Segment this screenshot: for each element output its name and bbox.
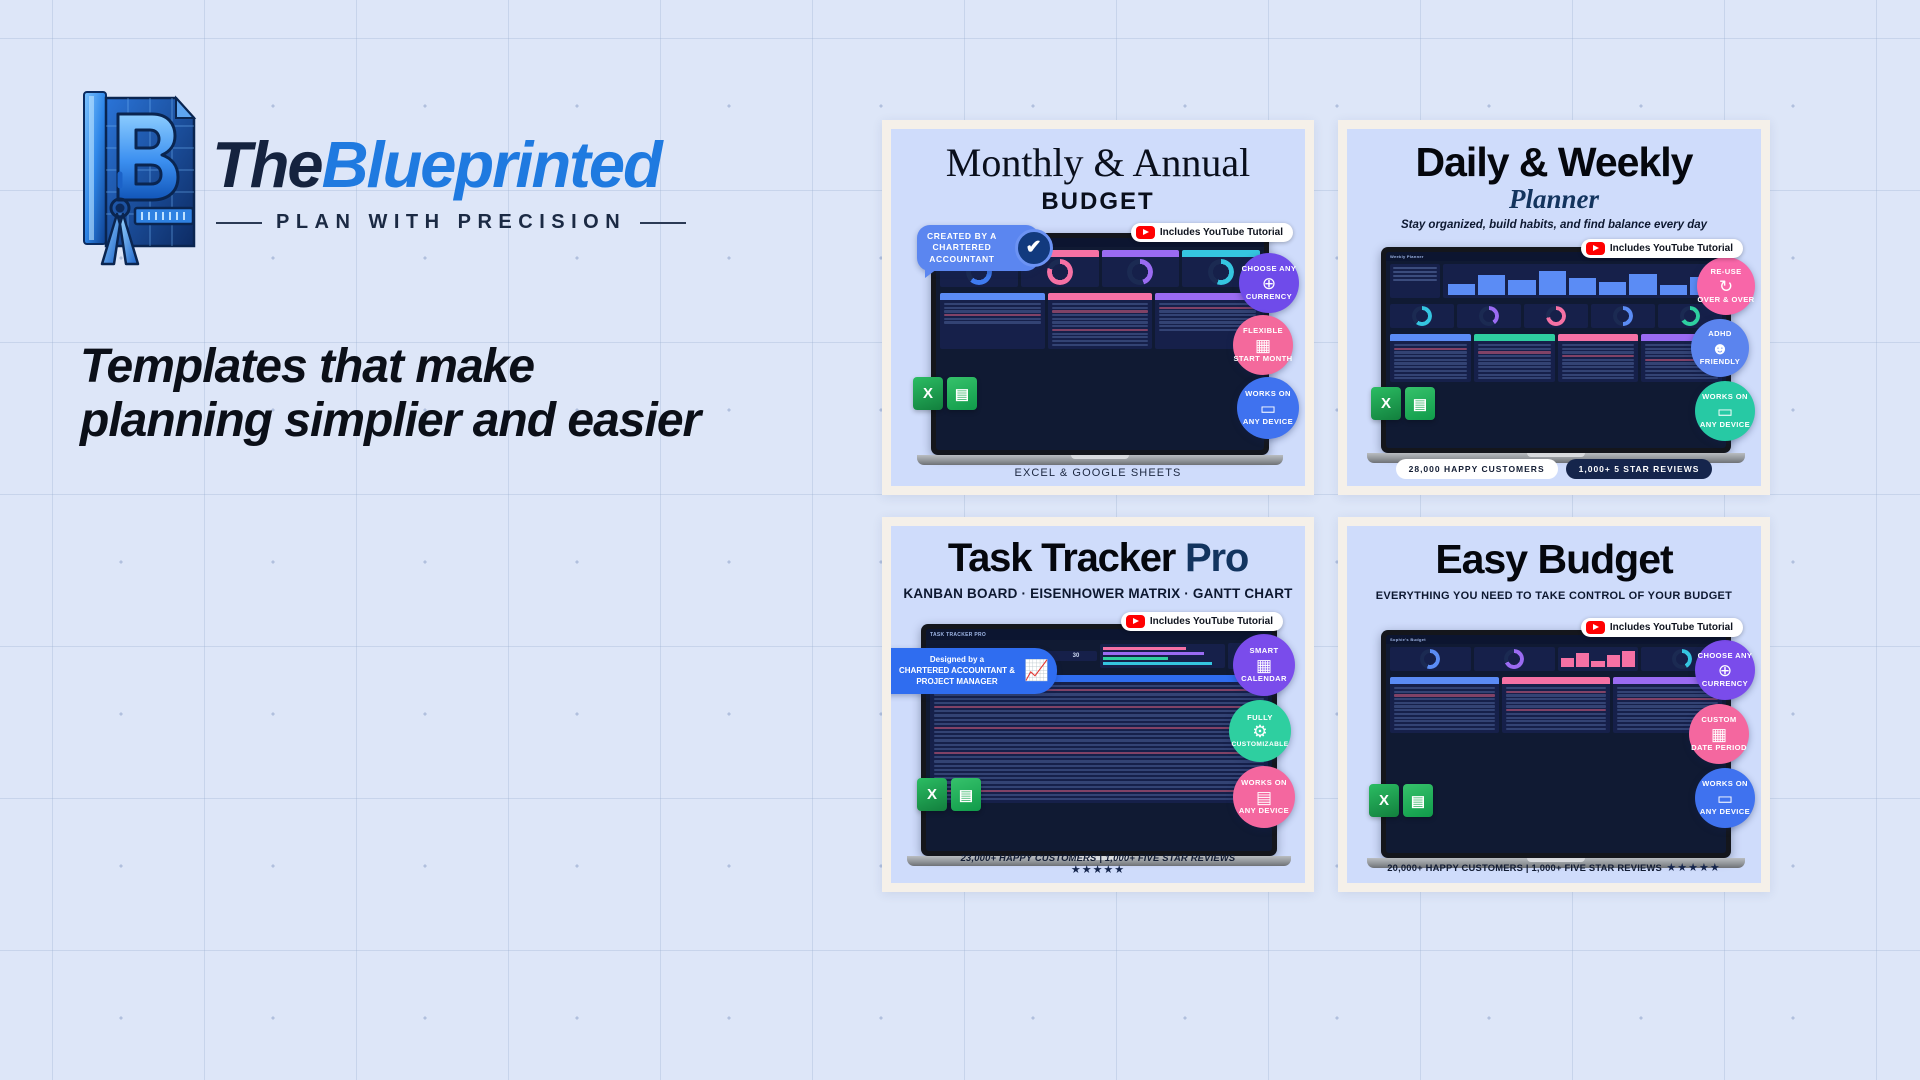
hbar-panel bbox=[1100, 644, 1226, 668]
excel-icon: X bbox=[1371, 387, 1401, 420]
badge-adhd-friendly: ADHD ☻ FRIENDLY bbox=[1691, 319, 1749, 377]
google-sheets-icon: ▤ bbox=[947, 377, 977, 410]
calendar-icon: ▦ bbox=[1256, 657, 1272, 674]
badge-line-1: CHOOSE ANY bbox=[1242, 265, 1297, 273]
excel-icon: X bbox=[917, 778, 947, 811]
card-subtitle: BUDGET bbox=[891, 188, 1305, 216]
badge-smart-calendar: SMART ▦ CALENDAR bbox=[1233, 634, 1295, 696]
tagline-rule-left bbox=[216, 222, 262, 224]
planner-table-row bbox=[1386, 331, 1726, 385]
callout-line-2: CHARTERED bbox=[927, 242, 997, 253]
youtube-badge-label: Includes YouTube Tutorial bbox=[1610, 243, 1733, 254]
badge-flexible-start-month: FLEXIBLE ▦ START MONTH bbox=[1233, 315, 1293, 375]
brand-wordmark: TheBlueprinted bbox=[212, 132, 686, 197]
donut-panel bbox=[1524, 304, 1588, 328]
card-title-accent: Pro bbox=[1185, 536, 1248, 580]
laptop-screen: Sophie's Budget bbox=[1386, 635, 1726, 853]
devices-wifi-icon: ▭ bbox=[1260, 400, 1276, 417]
card-title-text: Task Tracker bbox=[948, 536, 1175, 580]
badge-line-1: ADHD bbox=[1708, 330, 1732, 338]
badge-line-1: SMART bbox=[1250, 647, 1279, 655]
card-inner: Task Tracker Pro KANBAN BOARD · EISENHOW… bbox=[891, 526, 1305, 883]
card-title: Daily & Weekly bbox=[1347, 139, 1761, 186]
badge-line-1: WORKS ON bbox=[1702, 393, 1748, 401]
badge-line-2: CURRENCY bbox=[1246, 293, 1292, 301]
laptop-bezel: Sophie's Budget bbox=[1381, 630, 1731, 858]
laptop-mockup: Sophie's Budget bbox=[1381, 630, 1731, 868]
badge-line-1: WORKS ON bbox=[1702, 780, 1748, 788]
card-footer: 20,000+ HAPPY CUSTOMERS | 1,000+ FIVE ST… bbox=[1347, 858, 1761, 876]
footer-star-rating: ★★★★★ bbox=[1666, 862, 1720, 874]
youtube-icon bbox=[1586, 242, 1605, 255]
google-sheets-icon: ▤ bbox=[1405, 387, 1435, 420]
badge-choose-any-currency: CHOOSE ANY ⊕ CURRENCY bbox=[1695, 640, 1755, 700]
youtube-badge-label: Includes YouTube Tutorial bbox=[1610, 622, 1733, 633]
kpi-panel bbox=[1474, 647, 1555, 671]
check-circle-icon: ✔ bbox=[1015, 229, 1053, 267]
table-panel bbox=[1390, 334, 1471, 382]
devices-wifi-icon: ▭ bbox=[1717, 403, 1733, 420]
footer-text: EXCEL & GOOGLE SHEETS bbox=[891, 467, 1305, 479]
badge-line-1: CUSTOM bbox=[1701, 716, 1736, 724]
card-inner: Monthly & Annual BUDGET Includes YouTube… bbox=[891, 129, 1305, 486]
tagline-rule-right bbox=[640, 222, 686, 224]
youtube-badge-label: Includes YouTube Tutorial bbox=[1150, 616, 1273, 627]
badge-works-on-any-device: WORKS ON ▭ ANY DEVICE bbox=[1695, 768, 1755, 828]
card-footer: 23,000+ HAPPY CUSTOMERS | 1,000+ FIVE ST… bbox=[891, 852, 1305, 876]
footer-text: 20,000+ HAPPY CUSTOMERS | 1,000+ FIVE ST… bbox=[1387, 862, 1662, 873]
ribbon-line-1: Designed by a bbox=[899, 655, 1015, 666]
devices-wifi-icon: ▭ bbox=[1717, 790, 1733, 807]
footer-line: 20,000+ HAPPY CUSTOMERS | 1,000+ FIVE ST… bbox=[1347, 858, 1761, 876]
badge-line-2: CALENDAR bbox=[1241, 675, 1287, 683]
youtube-badge-label: Includes YouTube Tutorial bbox=[1160, 227, 1283, 238]
brand-tagline-row: PLAN WITH PRECISION bbox=[212, 211, 686, 234]
badge-line-1: WORKS ON bbox=[1245, 390, 1291, 398]
planner-bars-row bbox=[1386, 261, 1726, 301]
footer-pill-row: 28,000 HAPPY CUSTOMERS 1,000+ 5 STAR REV… bbox=[1347, 459, 1761, 479]
badge-line-2: START MONTH bbox=[1233, 355, 1292, 363]
screen-label: Sophie's Budget bbox=[1390, 637, 1426, 642]
card-header: Daily & Weekly Planner Stay organized, b… bbox=[1347, 129, 1761, 231]
screen-label: Weekly Planner bbox=[1390, 254, 1424, 259]
youtube-icon bbox=[1126, 615, 1145, 628]
donut-panel bbox=[1457, 304, 1521, 328]
spreadsheet-table-row bbox=[936, 290, 1264, 352]
google-sheets-icon: ▤ bbox=[1403, 784, 1433, 817]
excel-icon: X bbox=[1369, 784, 1399, 817]
bar-panel bbox=[1558, 647, 1639, 671]
happy-customers-pill: 28,000 HAPPY CUSTOMERS bbox=[1396, 459, 1558, 479]
product-card-easy-budget[interactable]: Easy Budget EVERYTHING YOU NEED TO TAKE … bbox=[1338, 517, 1770, 892]
callout-line-3: ACCOUNTANT bbox=[927, 254, 997, 265]
devices-wifi-icon: ▤ bbox=[1256, 789, 1272, 806]
donut-panel bbox=[1390, 304, 1454, 328]
badge-works-on-any-device: WORKS ON ▭ ANY DEVICE bbox=[1695, 381, 1755, 441]
badge-line-1: CHOOSE ANY bbox=[1698, 652, 1753, 660]
brand-panel: TheBlueprinted PLAN WITH PRECISION Templ… bbox=[80, 78, 880, 448]
table-panel bbox=[1390, 677, 1499, 733]
planner-donut-row bbox=[1386, 301, 1726, 331]
table-panel bbox=[940, 293, 1045, 349]
laptop-mockup: Weekly Planner bbox=[1381, 247, 1731, 463]
youtube-tutorial-badge[interactable]: Includes YouTube Tutorial bbox=[1121, 612, 1283, 631]
budget-kpi-row bbox=[1386, 644, 1726, 674]
product-card-monthly-annual-budget[interactable]: Monthly & Annual BUDGET Includes YouTube… bbox=[882, 120, 1314, 495]
app-icon-group: X ▤ bbox=[1369, 784, 1433, 817]
badge-custom-date-period: CUSTOM ▦ DATE PERIOD bbox=[1689, 704, 1749, 764]
brand-lockup: TheBlueprinted PLAN WITH PRECISION bbox=[80, 78, 880, 278]
google-sheets-icon: ▤ bbox=[951, 778, 981, 811]
card-inner: Easy Budget EVERYTHING YOU NEED TO TAKE … bbox=[1347, 526, 1761, 883]
brain-head-icon: ☻ bbox=[1711, 340, 1729, 357]
recycle-arrows-icon: ↻ bbox=[1719, 278, 1733, 295]
designed-by-ribbon: Designed by a CHARTERED ACCOUNTANT & PRO… bbox=[891, 648, 1057, 694]
footer-star-rating: ★★★★★ bbox=[891, 863, 1305, 876]
laptop-base bbox=[917, 455, 1283, 465]
footer-text: 23,000+ HAPPY CUSTOMERS | 1,000+ FIVE ST… bbox=[891, 852, 1305, 863]
brand-tagline: PLAN WITH PRECISION bbox=[276, 211, 626, 234]
badge-line-1: FLEXIBLE bbox=[1243, 327, 1283, 335]
calendar-icon: ▦ bbox=[1711, 726, 1727, 743]
star-reviews-pill: 1,000+ 5 STAR REVIEWS bbox=[1566, 459, 1713, 479]
youtube-icon bbox=[1586, 621, 1605, 634]
product-card-task-tracker-pro[interactable]: Task Tracker Pro KANBAN BOARD · EISENHOW… bbox=[882, 517, 1314, 892]
chartered-accountant-callout: CREATED BY A CHARTERED ACCOUNTANT ✔ bbox=[917, 225, 1039, 271]
side-panel bbox=[1390, 264, 1440, 298]
youtube-icon bbox=[1136, 226, 1155, 239]
badge-works-on-any-device: WORKS ON ▭ ANY DEVICE bbox=[1237, 377, 1299, 439]
currency-coins-icon: ⊕ bbox=[1262, 275, 1276, 292]
laptop-screen: Weekly Planner bbox=[1386, 252, 1726, 448]
card-header: Easy Budget EVERYTHING YOU NEED TO TAKE … bbox=[1347, 526, 1761, 602]
badge-line-1: WORKS ON bbox=[1241, 779, 1287, 787]
table-panel bbox=[1048, 293, 1153, 349]
wordmark-blue: Blue bbox=[322, 128, 455, 201]
card-header: Monthly & Annual BUDGET bbox=[891, 129, 1305, 216]
card-title: Task Tracker Pro bbox=[891, 536, 1305, 581]
badge-fully-customizable: FULLY ⚙ CUSTOMIZABLE bbox=[1229, 700, 1291, 762]
badge-line-1: RE-USE bbox=[1710, 268, 1741, 276]
currency-coins-icon: ⊕ bbox=[1718, 662, 1732, 679]
youtube-tutorial-badge[interactable]: Includes YouTube Tutorial bbox=[1581, 618, 1743, 637]
bar-chart-panel bbox=[1443, 264, 1722, 298]
card-subtitle: Planner bbox=[1347, 184, 1761, 215]
card-footer: 28,000 HAPPY CUSTOMERS 1,000+ 5 STAR REV… bbox=[1347, 459, 1761, 479]
product-card-grid: Monthly & Annual BUDGET Includes YouTube… bbox=[882, 120, 1782, 900]
badge-re-use-over-and-over: RE-USE ↻ OVER & OVER bbox=[1697, 257, 1755, 315]
app-icon-group: X ▤ bbox=[913, 377, 977, 410]
card-tagline: Stay organized, build habits, and find b… bbox=[1347, 219, 1761, 231]
settings-phone-icon: ⚙ bbox=[1252, 723, 1267, 740]
screen-label: TASK TRACKER PRO bbox=[930, 632, 986, 638]
card-inner: Daily & Weekly Planner Stay organized, b… bbox=[1347, 129, 1761, 486]
laptop-bezel: Weekly Planner bbox=[1381, 247, 1731, 453]
calendar-icon: ▦ bbox=[1255, 337, 1271, 354]
app-icon-group: X ▤ bbox=[1371, 387, 1435, 420]
badge-line-2: CUSTOMIZABLE bbox=[1231, 742, 1288, 749]
badge-line-2: ANY DEVICE bbox=[1243, 418, 1293, 426]
wordmark-the: The bbox=[212, 128, 322, 201]
headline-line-2: planning simplier and easier bbox=[80, 394, 840, 448]
blueprint-b-compass-logo-icon bbox=[80, 78, 198, 278]
card-title: Easy Budget bbox=[1347, 536, 1761, 583]
kpi-value: 30 bbox=[1073, 653, 1080, 659]
badge-line-1: FULLY bbox=[1247, 714, 1273, 722]
card-header: Task Tracker Pro KANBAN BOARD · EISENHOW… bbox=[891, 526, 1305, 601]
excel-icon: X bbox=[913, 377, 943, 410]
badge-line-2: CURRENCY bbox=[1702, 680, 1748, 688]
card-tagline: KANBAN BOARD · EISENHOWER MATRIX · GANTT… bbox=[891, 586, 1305, 601]
badge-line-2: ANY DEVICE bbox=[1700, 808, 1750, 816]
youtube-tutorial-badge[interactable]: Includes YouTube Tutorial bbox=[1581, 239, 1743, 258]
headline-line-1: Templates that make bbox=[80, 340, 840, 394]
callout-line-1: CREATED BY A bbox=[927, 231, 997, 242]
page-headline: Templates that make planning simplier an… bbox=[80, 340, 840, 448]
chart-check-icon: 📈 bbox=[1024, 661, 1049, 681]
ribbon-line-3: PROJECT MANAGER bbox=[899, 677, 1015, 688]
badge-line-2: DATE PERIOD bbox=[1691, 744, 1747, 752]
brand-wordmark-block: TheBlueprinted PLAN WITH PRECISION bbox=[212, 122, 686, 234]
donut-panel bbox=[1591, 304, 1655, 328]
kpi-panel bbox=[1390, 647, 1471, 671]
card-footer: EXCEL & GOOGLE SHEETS bbox=[891, 467, 1305, 479]
card-tagline: EVERYTHING YOU NEED TO TAKE CONTROL OF Y… bbox=[1347, 590, 1761, 602]
badge-line-2: ANY DEVICE bbox=[1239, 807, 1289, 815]
table-panel bbox=[1474, 334, 1555, 382]
card-title: Monthly & Annual bbox=[891, 139, 1305, 186]
badge-line-2: ANY DEVICE bbox=[1700, 421, 1750, 429]
ribbon-line-2: CHARTERED ACCOUNTANT & bbox=[899, 666, 1015, 677]
badge-choose-any-currency: CHOOSE ANY ⊕ CURRENCY bbox=[1239, 253, 1299, 313]
table-panel bbox=[1502, 677, 1611, 733]
badge-line-2: OVER & OVER bbox=[1697, 296, 1754, 304]
badge-works-on-any-device: WORKS ON ▤ ANY DEVICE bbox=[1233, 766, 1295, 828]
table-panel bbox=[1558, 334, 1639, 382]
youtube-tutorial-badge[interactable]: Includes YouTube Tutorial bbox=[1131, 223, 1293, 242]
app-icon-group: X ▤ bbox=[917, 778, 981, 811]
budget-table-row bbox=[1386, 674, 1726, 736]
badge-line-2: FRIENDLY bbox=[1700, 358, 1740, 366]
product-card-daily-weekly-planner[interactable]: Daily & Weekly Planner Stay organized, b… bbox=[1338, 120, 1770, 495]
wordmark-printed: printed bbox=[454, 128, 660, 201]
kpi-panel bbox=[1102, 250, 1180, 287]
